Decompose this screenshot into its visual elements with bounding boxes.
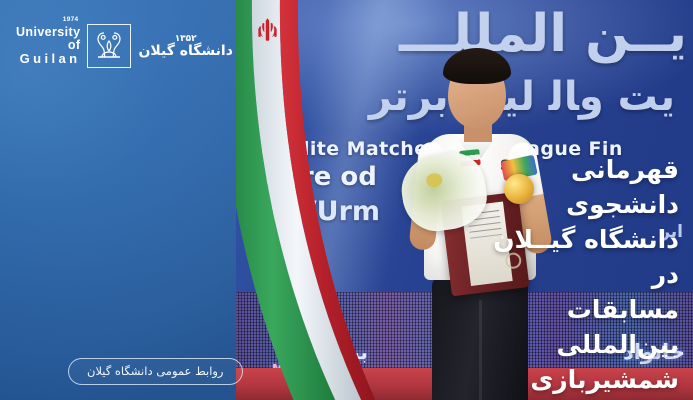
- founding-year-latin: 1974: [63, 17, 79, 24]
- public-relations-badge[interactable]: روابط عمومی دانشگاه گیلان: [68, 358, 243, 385]
- university-name-line-1: University of: [16, 26, 80, 52]
- university-name-persian: ۱۳۵۲ دانشگاه گیلان: [138, 35, 232, 58]
- headline: قهرمانی دانشجوی دانشگاه گیــلان در مسابق…: [469, 152, 679, 397]
- university-name-line-2: Guilan: [16, 52, 80, 66]
- university-name-english: 1974 University of Guilan: [16, 26, 80, 66]
- guilan-university-crest-icon: [87, 24, 131, 68]
- headline-line-1: قهرمانی دانشجوی: [469, 152, 679, 222]
- headline-line-3: مسابقات بین‌المللی: [469, 292, 679, 362]
- university-logo[interactable]: 1974 University of Guilan ۱۳۵۲ دانشگاه گ…: [16, 22, 216, 70]
- news-banner: یــن المللـــ یت وﺎﻟ لیگ برتر Satellite …: [0, 0, 693, 400]
- athlete-hair: [443, 48, 511, 84]
- university-name-persian-text: دانشگاه گیلان: [138, 43, 232, 59]
- headline-line-2: دانشگاه گیــلان در: [469, 222, 679, 292]
- headline-line-4: شمشیربازی: [469, 362, 679, 397]
